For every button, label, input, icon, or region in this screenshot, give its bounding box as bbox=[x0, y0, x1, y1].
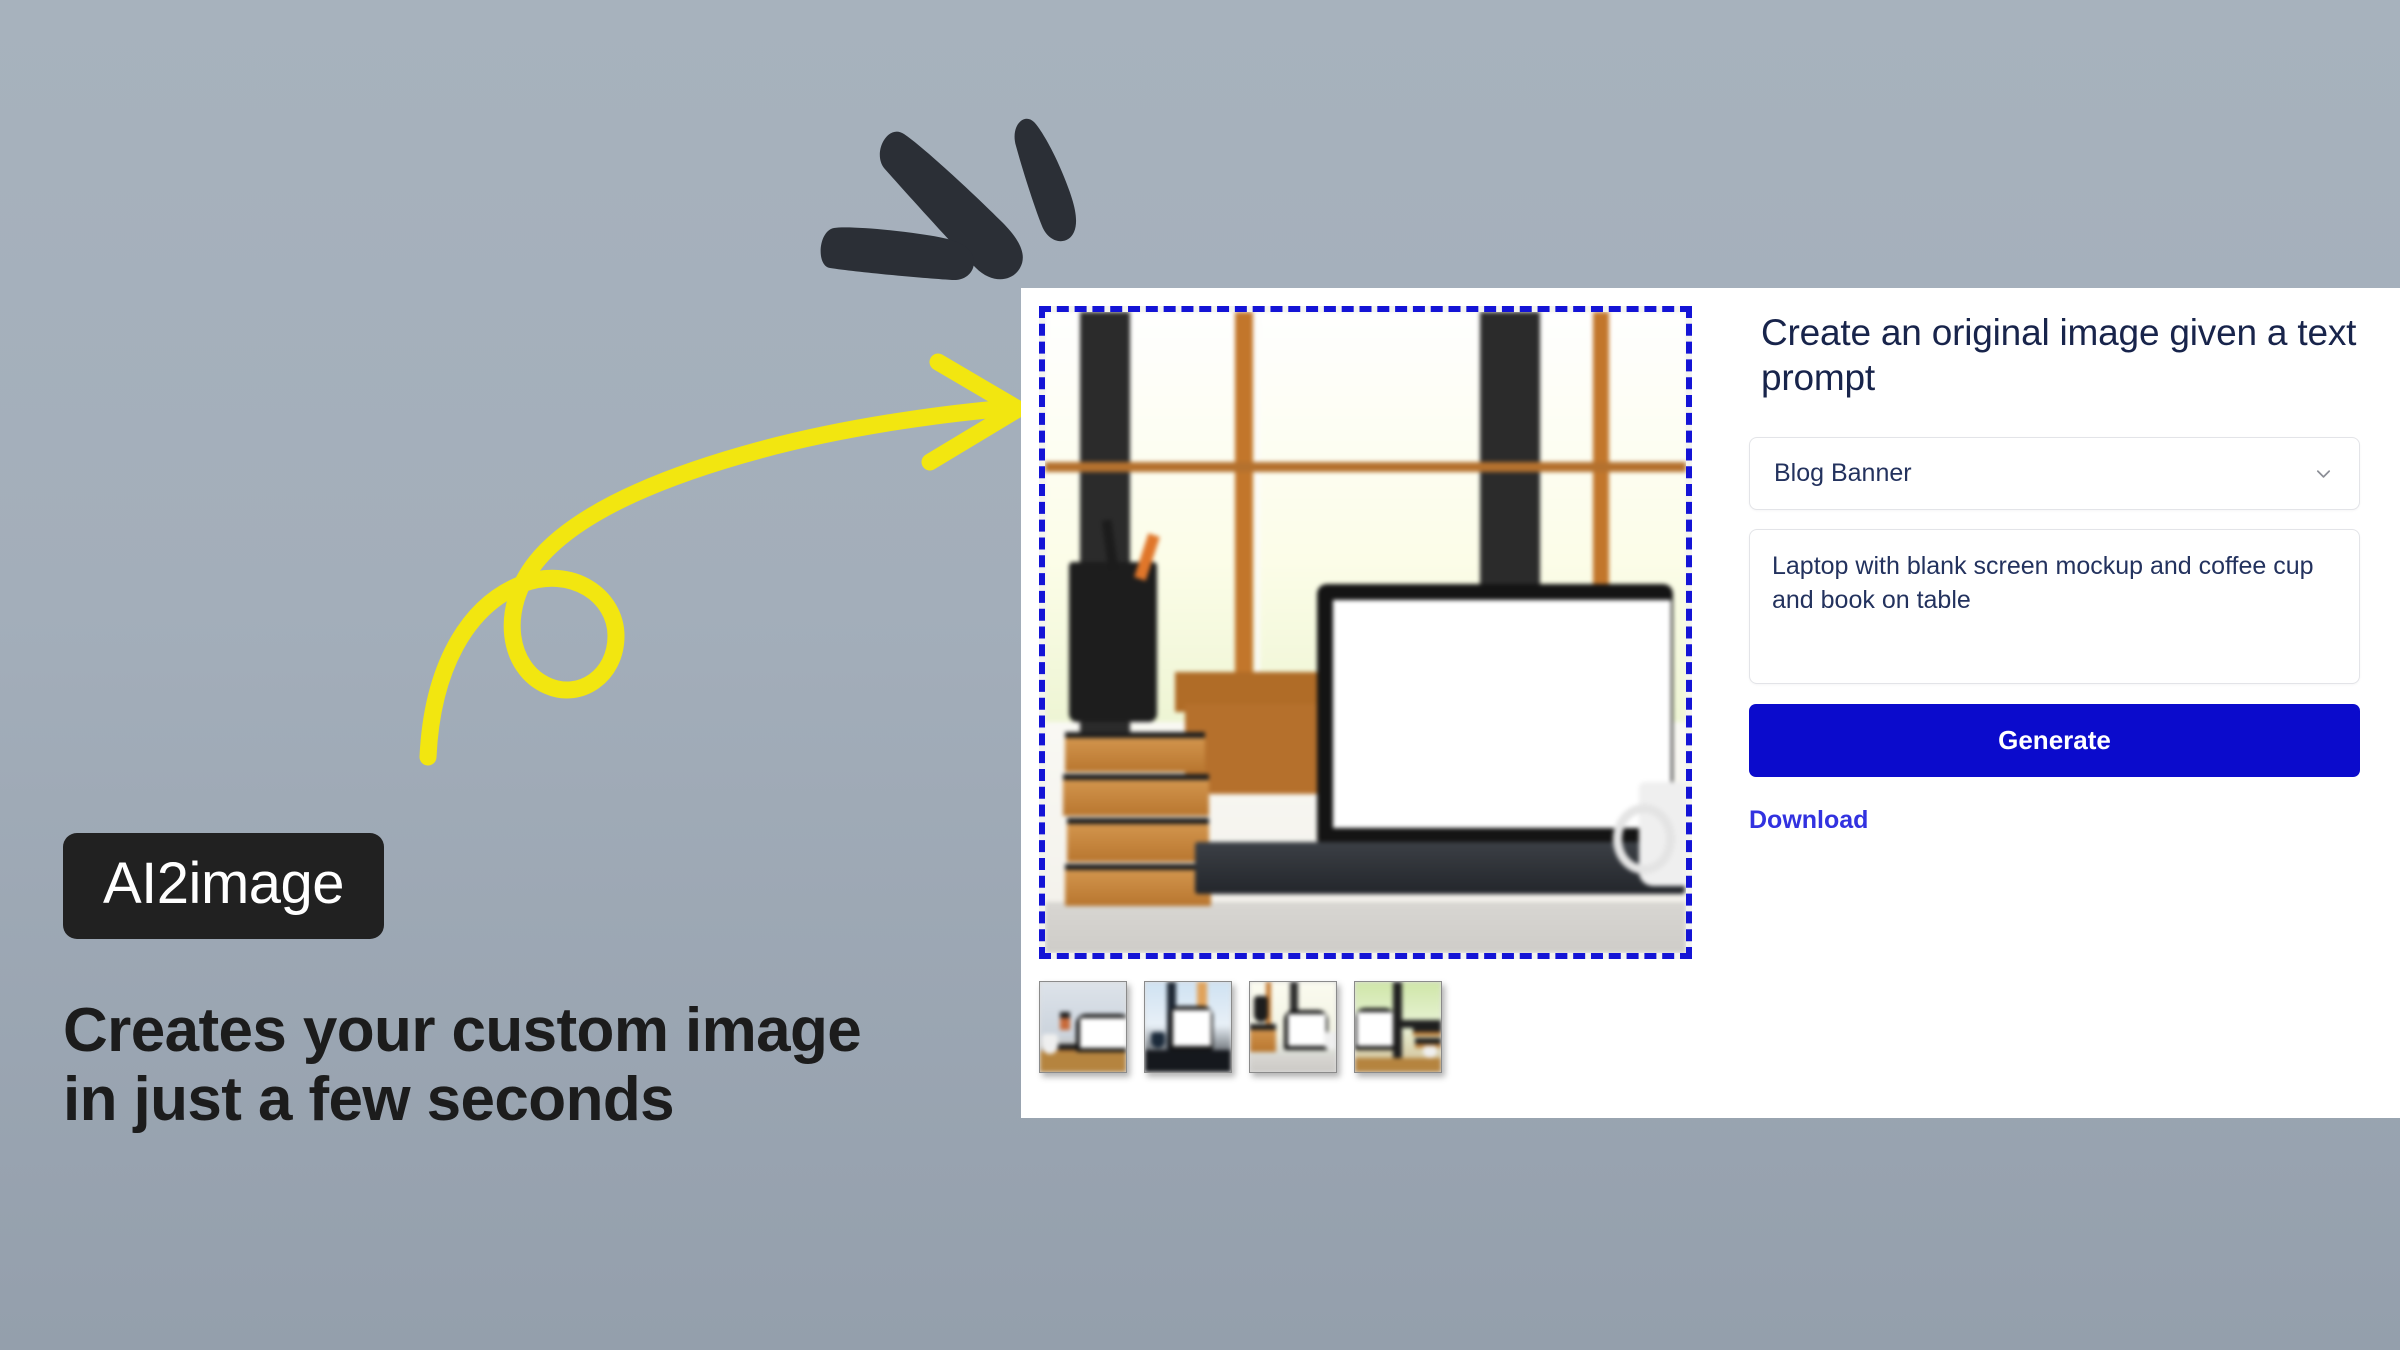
thumbnail-3[interactable] bbox=[1249, 981, 1337, 1073]
tagline-line-1: Creates your custom image bbox=[63, 996, 1023, 1065]
format-select-value: Blog Banner bbox=[1774, 459, 1912, 488]
thumbnail-2[interactable] bbox=[1144, 981, 1232, 1073]
form-column: Create an original image given a text pr… bbox=[1711, 288, 2400, 1118]
thumbnail-1[interactable] bbox=[1039, 981, 1127, 1073]
tagline: Creates your custom image in just a few … bbox=[63, 996, 1023, 1135]
page-title: Create an original image given a text pr… bbox=[1761, 310, 2360, 400]
brand-block: AI2image Creates your custom image in ju… bbox=[63, 833, 1063, 1135]
logo-text: AI2image bbox=[103, 851, 344, 916]
generate-button-label: Generate bbox=[1998, 725, 2111, 756]
thumbnail-4[interactable] bbox=[1354, 981, 1442, 1073]
generate-button[interactable]: Generate bbox=[1749, 704, 2360, 777]
app-card: Create an original image given a text pr… bbox=[1021, 288, 2400, 1118]
prompt-input-value: Laptop with blank screen mockup and coff… bbox=[1772, 549, 2337, 617]
curved-yellow-arrow bbox=[428, 362, 1018, 757]
download-link[interactable]: Download bbox=[1749, 806, 1868, 835]
emphasis-burst-lines bbox=[821, 119, 1076, 280]
image-preview[interactable] bbox=[1039, 306, 1692, 959]
chevron-down-icon bbox=[2314, 464, 2333, 483]
preview-column bbox=[1021, 288, 1711, 1118]
format-select[interactable]: Blog Banner bbox=[1749, 437, 2360, 510]
thumbnail-row bbox=[1039, 981, 1711, 1073]
logo-badge: AI2image bbox=[63, 833, 384, 939]
tagline-line-2: in just a few seconds bbox=[63, 1065, 1023, 1134]
prompt-input[interactable]: Laptop with blank screen mockup and coff… bbox=[1749, 529, 2360, 684]
preview-photo bbox=[1045, 312, 1686, 953]
